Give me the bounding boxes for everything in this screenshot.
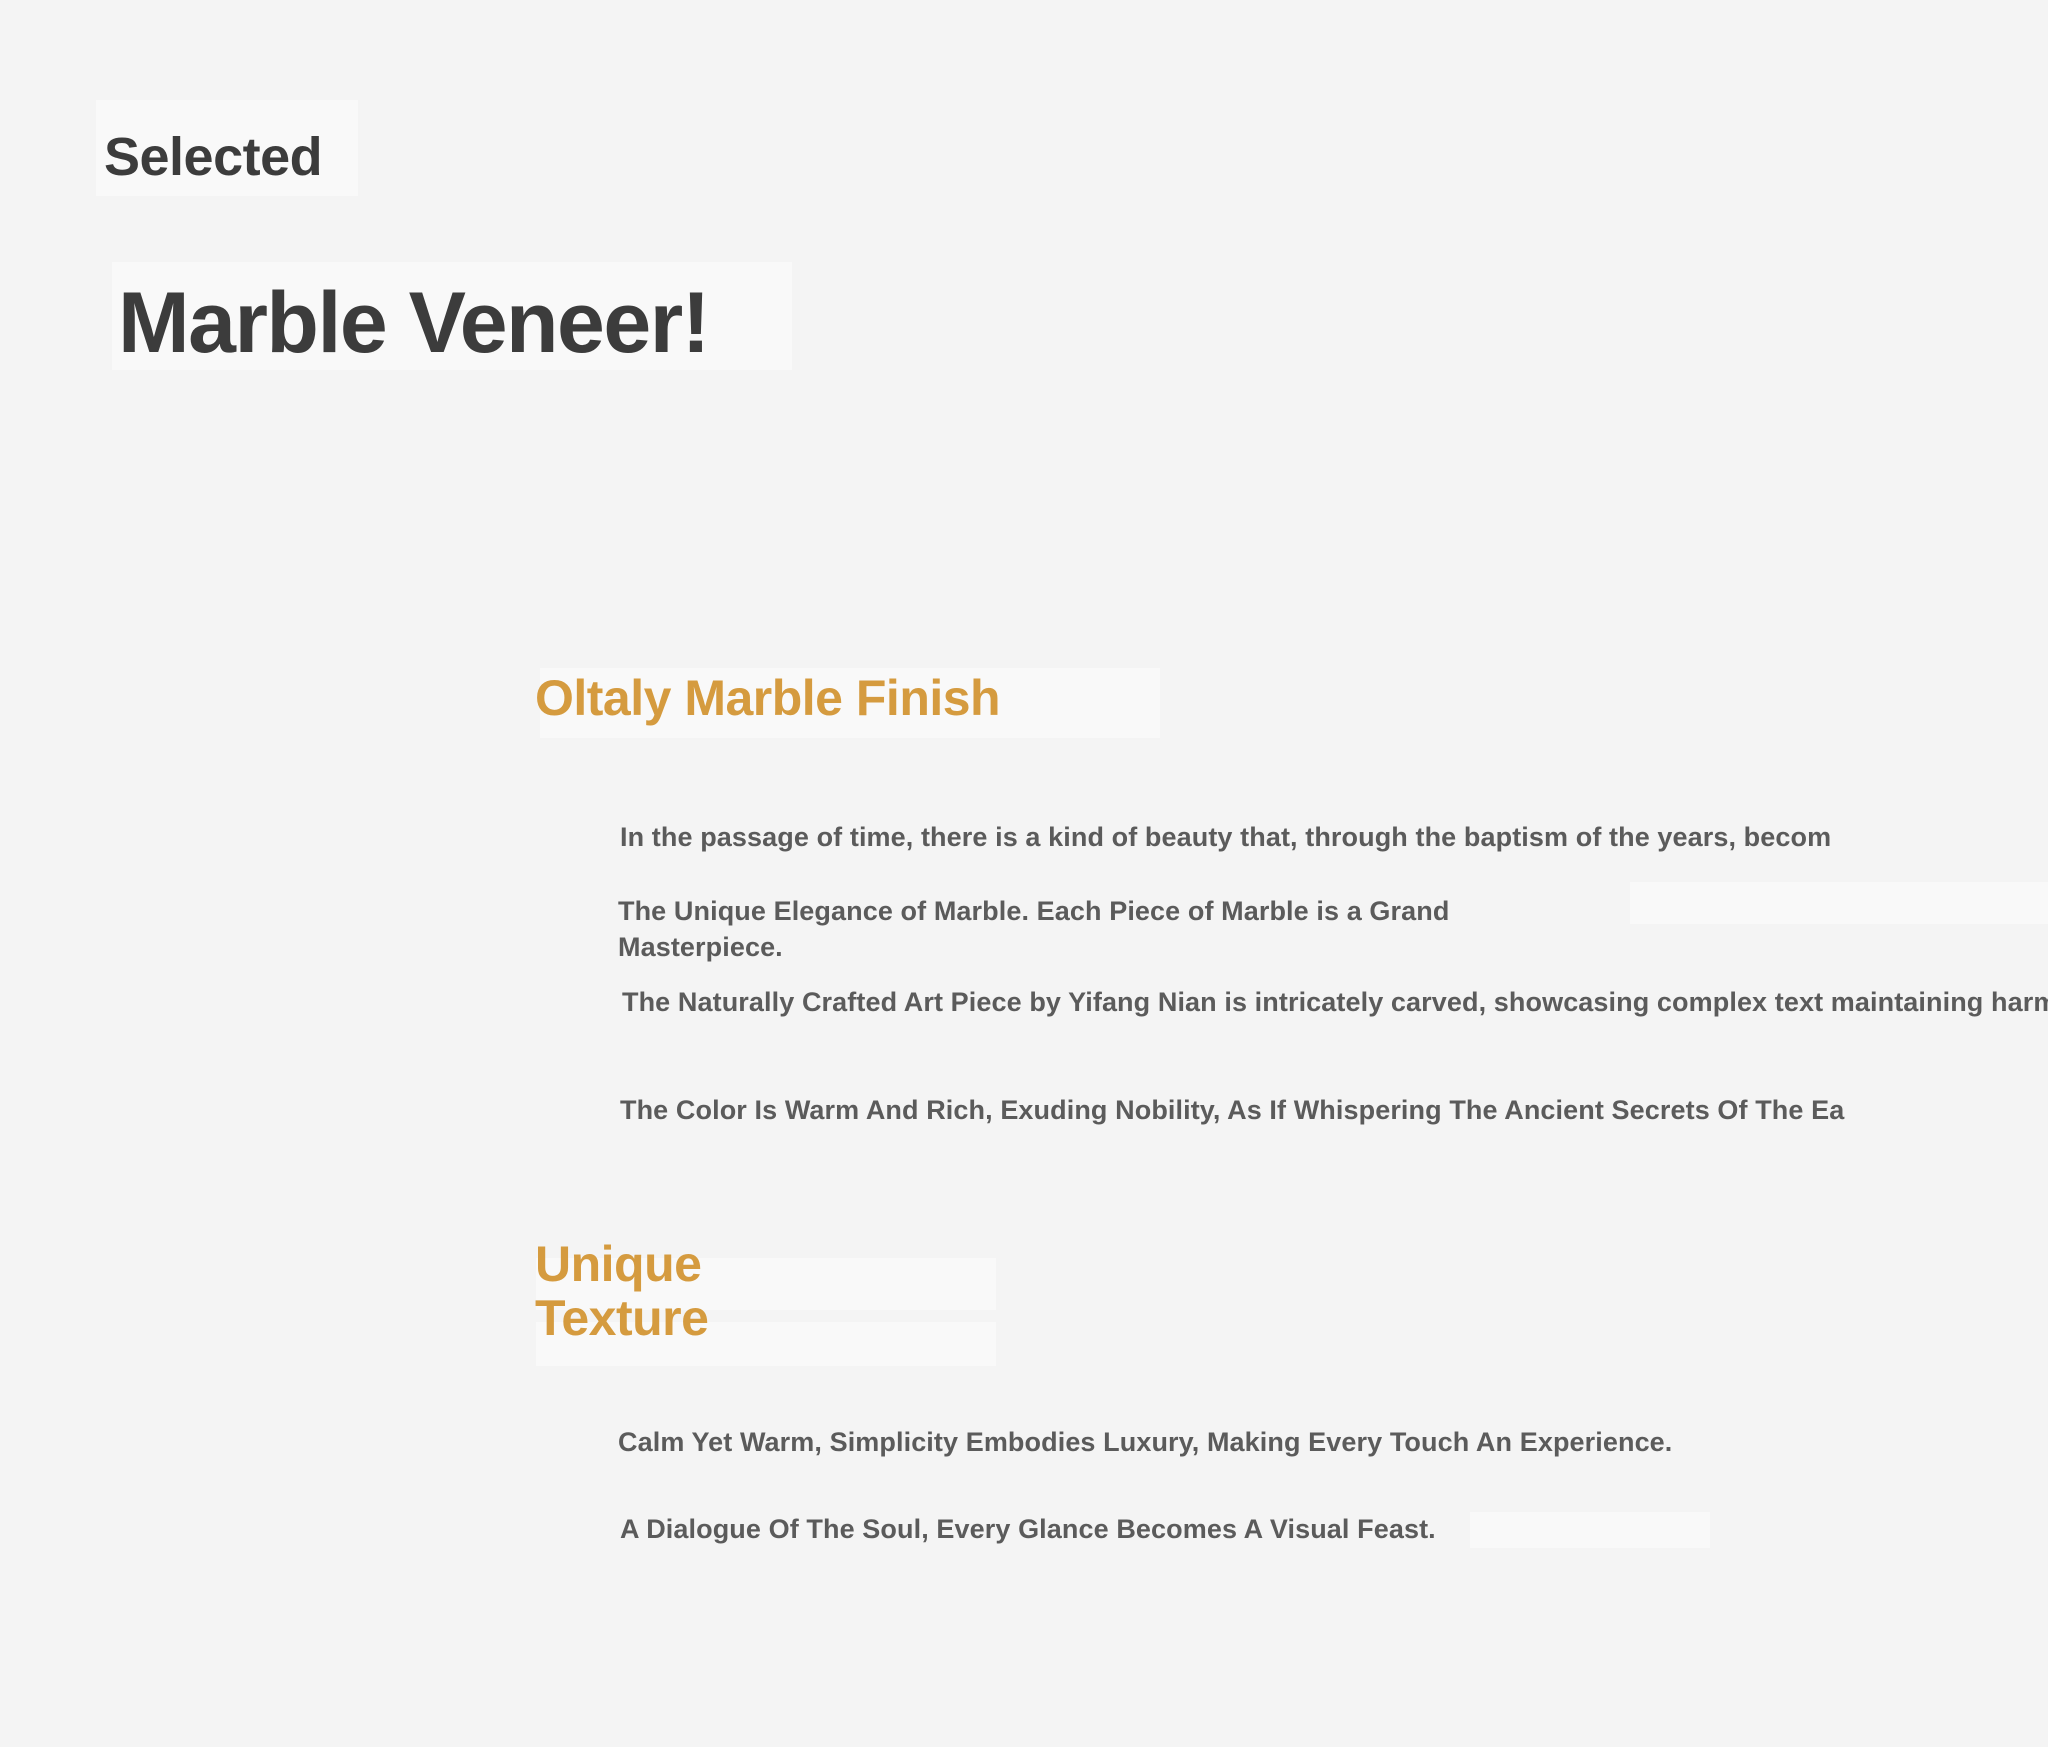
hero-eyebrow: Selected: [104, 128, 322, 187]
background-highlight-panel: [1630, 882, 2048, 924]
paragraph-passage-of-time: In the passage of time, there is a kind …: [620, 820, 2048, 856]
paragraph-warm-color: The Color Is Warm And Rich, Exuding Nobi…: [620, 1093, 2048, 1129]
marble-veneer-page: Selected Marble Veneer! Oltaly Marble Fi…: [0, 0, 2048, 1747]
paragraph-unique-elegance: The Unique Elegance of Marble. Each Piec…: [618, 894, 1608, 966]
paragraph-dialogue-of-soul: A Dialogue Of The Soul, Every Glance Bec…: [620, 1512, 2048, 1548]
section-heading-finish: Oltaly Marble Finish: [535, 671, 1000, 725]
paragraph-calm-yet-warm: Calm Yet Warm, Simplicity Embodies Luxur…: [618, 1425, 2048, 1461]
paragraph-naturally-crafted: The Naturally Crafted Art Piece by Yifan…: [622, 985, 2048, 1021]
page-title: Marble Veneer!: [118, 278, 709, 368]
section-heading-texture: Unique Texture: [535, 1237, 708, 1345]
